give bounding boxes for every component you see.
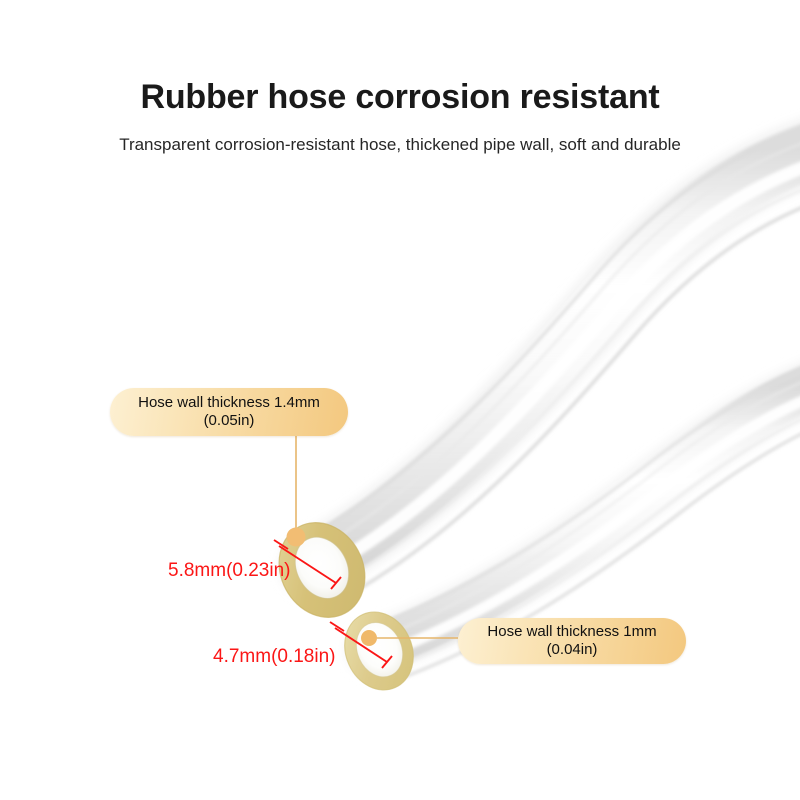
bore-arrow-small [330,622,392,668]
infographic-canvas: Rubber hose corrosion resistant Transpar… [0,0,800,800]
dimension-label-large-bore: 5.8mm(0.23in) [168,561,291,580]
header: Rubber hose corrosion resistant Transpar… [0,0,800,153]
page-subtitle: Transparent corrosion-resistant hose, th… [0,136,800,153]
callout-large-hose-wall-line2: (0.05in) [138,412,320,430]
leader-dot-large [287,528,306,547]
callout-large-hose-wall-line1: Hose wall thickness 1.4mm [138,394,320,412]
page-title: Rubber hose corrosion resistant [0,80,800,114]
callout-small-hose-wall-line2: (0.04in) [487,641,656,659]
dimension-label-small-bore: 4.7mm(0.18in) [213,647,336,666]
leader-dot-small [361,630,377,646]
callout-small-hose-wall-line1: Hose wall thickness 1mm [487,623,656,641]
callout-large-hose-wall: Hose wall thickness 1.4mm (0.05in) [110,388,348,436]
callout-small-hose-wall: Hose wall thickness 1mm (0.04in) [458,618,686,664]
